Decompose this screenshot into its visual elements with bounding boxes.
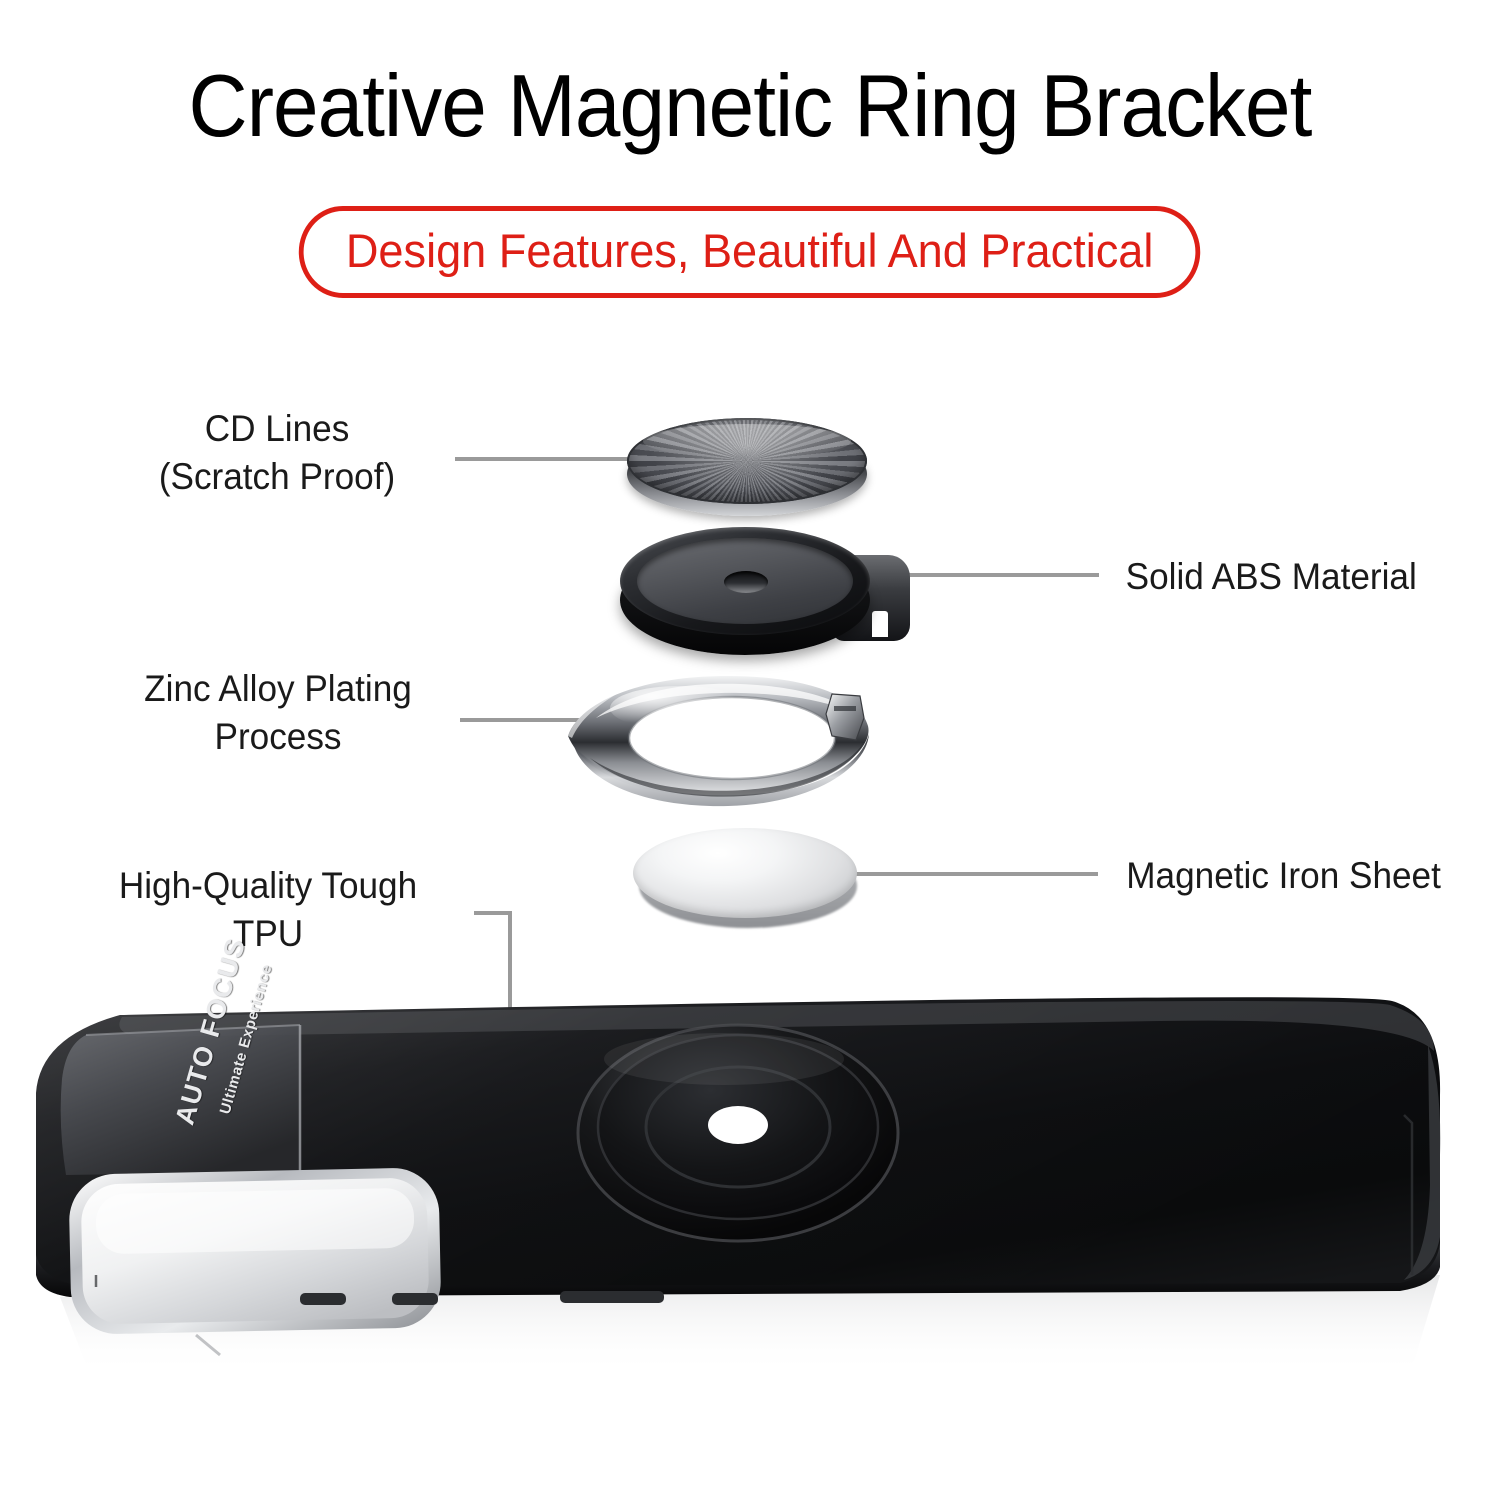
callout-label-cd-lines-line2: (Scratch Proof) [120,453,434,501]
case-ring-mount [578,1025,898,1241]
callout-label-cd-lines: CD Lines (Scratch Proof) [120,405,434,501]
subtitle-container: Design Features, Beautiful And Practical [0,206,1500,298]
callout-label-solid-abs: Solid ABS Material [1126,553,1417,601]
callout-label-tpu-line2: TPU [69,910,468,958]
case-button-2 [392,1293,438,1305]
zinc-ring-hinge-seam [834,706,856,711]
leader-line-solid-abs [884,573,1099,577]
infographic-canvas: Creative Magnetic Ring Bracket Design Fe… [0,0,1500,1500]
leader-line-cd-lines [455,457,641,461]
zinc-ring-graphic [560,662,890,810]
phone-case: AUTO FOCUS Ultimate Experience [0,975,1500,1395]
subtitle-badge: Design Features, Beautiful And Practical [299,206,1201,298]
cd-lines-disc-face [627,418,867,504]
callout-label-magnetic-sheet: Magnetic Iron Sheet [1126,852,1441,900]
callout-label-zinc-alloy-line2: Process [88,713,468,761]
leader-line-magnetic-sheet [838,872,1098,876]
abs-holder [620,527,910,662]
callout-label-zinc-alloy: Zinc Alloy Plating Process [88,665,468,761]
cd-lines-disc [627,418,867,510]
callout-label-zinc-alloy-line1: Zinc Alloy Plating [88,665,468,713]
ring-mount-center-dot [708,1106,768,1144]
case-button-1 [300,1293,346,1305]
zinc-ring-hinge-post [826,694,864,740]
zinc-ring-gloss [610,686,750,730]
callout-label-tpu: High-Quality Tough TPU [69,862,468,958]
zinc-ring [560,662,890,810]
magnetic-iron-sheet [633,828,863,933]
camera-glass-highlight [95,1188,414,1255]
leader-line-tpu-horizontal [474,911,512,915]
ring-mount-top-sheen [604,1033,844,1085]
abs-holder-center-hole [724,571,768,593]
page-title: Creative Magnetic Ring Bracket [53,62,1448,150]
magnetic-iron-sheet-face [633,828,857,918]
callout-label-cd-lines-line1: CD Lines [120,405,434,453]
abs-holder-body [620,527,870,659]
abs-holder-tab-notch [872,611,888,637]
callout-label-tpu-line1: High-Quality Tough [69,862,468,910]
case-camera-cutout [68,1167,441,1335]
case-button-3 [560,1291,664,1303]
